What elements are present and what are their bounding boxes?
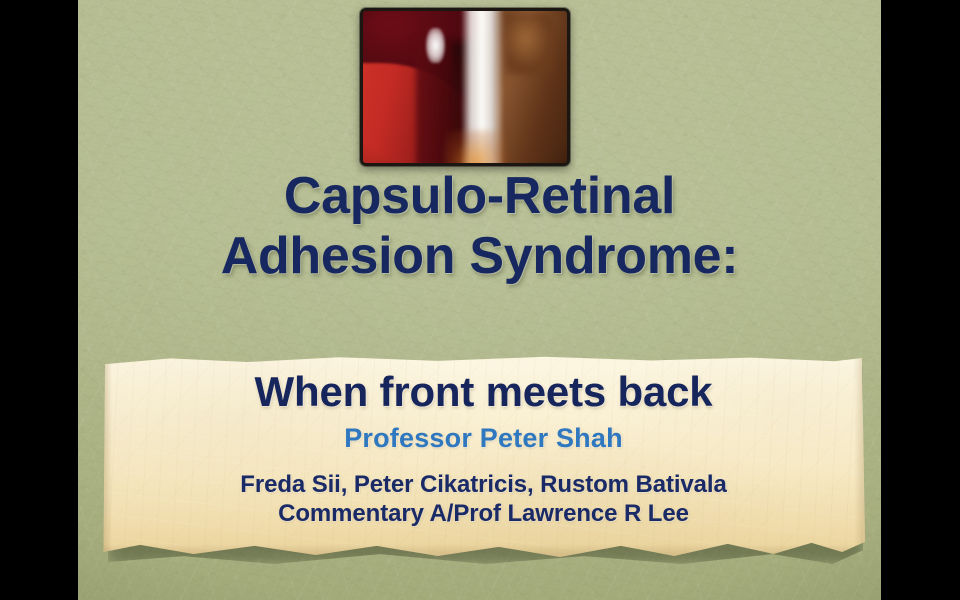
- subtitle: When front meets back: [122, 370, 845, 415]
- photograph-image: [363, 11, 567, 163]
- retinal-photograph-thumbnail: [360, 8, 570, 166]
- parchment-sheet: When front meets back Professor Peter Sh…: [102, 356, 865, 558]
- author-list: Freda Sii, Peter Cikatricis, Rustom Bati…: [122, 470, 845, 529]
- presenter-name: Professor Peter Shah: [122, 423, 845, 454]
- letterbox-bar-left: [0, 0, 78, 600]
- parchment-banner: When front meets back Professor Peter Sh…: [102, 356, 865, 558]
- page-title: Capsulo-Retinal Adhesion Syndrome:: [78, 166, 881, 287]
- letterbox-bar-right: [881, 0, 960, 600]
- author-line-2: Commentary A/Prof Lawrence R Lee: [122, 499, 845, 528]
- slide-stage: Capsulo-Retinal Adhesion Syndrome: When …: [0, 0, 960, 600]
- slide-background: Capsulo-Retinal Adhesion Syndrome: When …: [78, 0, 881, 600]
- author-line-1: Freda Sii, Peter Cikatricis, Rustom Bati…: [122, 470, 845, 499]
- title-line-1: Capsulo-Retinal: [78, 166, 881, 226]
- parchment-text-block: When front meets back Professor Peter Sh…: [102, 356, 865, 558]
- photo-vignette: [363, 11, 567, 163]
- title-line-2: Adhesion Syndrome:: [78, 226, 881, 286]
